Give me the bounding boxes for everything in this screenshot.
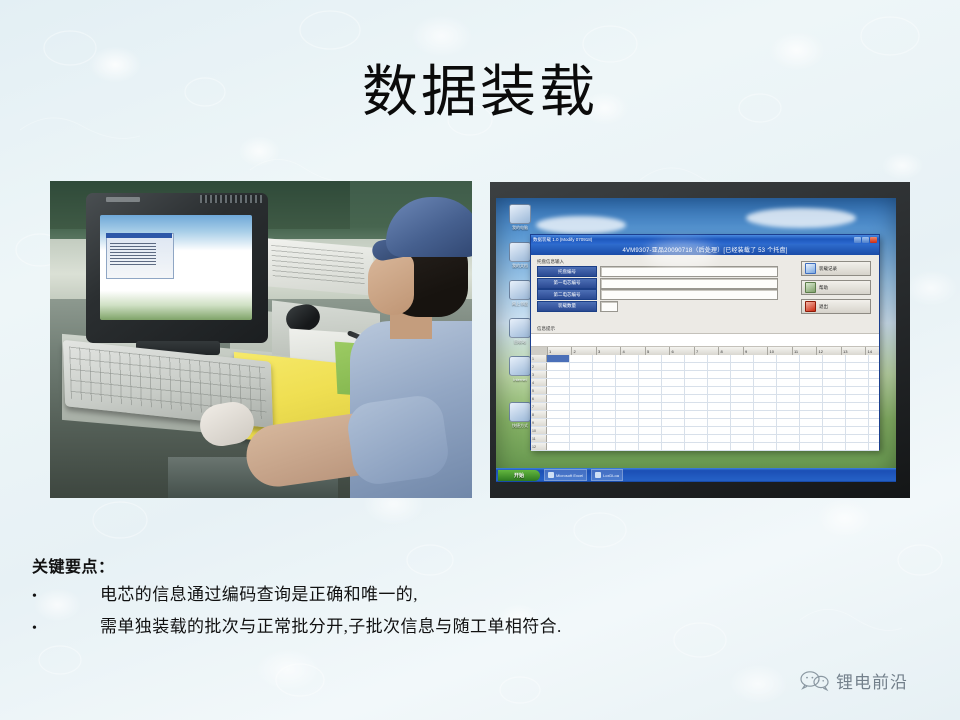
grid-cell[interactable] <box>846 355 869 362</box>
grid-cell[interactable] <box>777 411 800 418</box>
exit-icon <box>805 301 816 312</box>
grid-cell[interactable] <box>869 443 879 450</box>
grid-cell[interactable] <box>685 395 708 402</box>
grid-cell[interactable] <box>662 363 685 370</box>
grid-row[interactable]: 5 <box>531 387 879 395</box>
grid-cell[interactable] <box>593 371 616 378</box>
watermark-text: 锂电前沿 <box>836 668 908 693</box>
operator-at-workstation-photo <box>50 181 472 498</box>
grid-cell[interactable] <box>800 427 823 434</box>
grid-cell[interactable] <box>662 411 685 418</box>
grid-cell[interactable] <box>570 411 593 418</box>
grid-cell[interactable] <box>570 355 593 362</box>
windows-taskbar: 开始 Microsoft Excel LcxDLoa <box>496 468 896 482</box>
wechat-icon <box>800 669 830 693</box>
grid-cell[interactable] <box>777 443 800 450</box>
grid-cell[interactable] <box>547 435 570 442</box>
window-controls[interactable] <box>854 237 877 243</box>
grid-cell[interactable] <box>662 419 685 426</box>
grid-cell[interactable] <box>823 379 846 386</box>
grid-cell[interactable] <box>547 355 570 362</box>
grid-corner-cell <box>531 347 548 355</box>
grid-cell[interactable] <box>731 363 754 370</box>
grid-cell[interactable] <box>547 387 570 394</box>
grid-cell[interactable] <box>593 419 616 426</box>
grid-cell[interactable] <box>800 387 823 394</box>
grid-cell[interactable] <box>685 419 708 426</box>
grid-cell[interactable] <box>616 427 639 434</box>
key-point-text-2: 需单独装载的批次与正常批分开,子批次信息与随工单相符合. <box>100 612 562 642</box>
grid-cell[interactable] <box>846 443 869 450</box>
grid-cell[interactable] <box>662 403 685 410</box>
grid-row-header[interactable]: 6 <box>531 395 547 402</box>
grid-column-header[interactable]: 8 <box>719 347 744 355</box>
grid-cell[interactable] <box>823 395 846 402</box>
photo-monitor-brand <box>106 197 140 202</box>
grid-cell[interactable] <box>800 411 823 418</box>
grid-cell[interactable] <box>593 435 616 442</box>
grid-cell[interactable] <box>708 419 731 426</box>
grid-cell[interactable] <box>846 427 869 434</box>
grid-cell[interactable] <box>777 403 800 410</box>
grid-cell[interactable] <box>547 363 570 370</box>
grid-cell[interactable] <box>662 387 685 394</box>
grid-column-header[interactable]: 11 <box>793 347 818 355</box>
slide-canvas: 数据装载 <box>0 0 960 720</box>
data-grid[interactable]: 1234567891011121314151617 12345678910111… <box>531 347 879 451</box>
taskbar-item-app[interactable]: LcxDLoa <box>591 469 623 481</box>
key-point-item-2: • 需单独装载的批次与正常批分开,子批次信息与随工单相符合. <box>32 612 732 644</box>
app-subtitle-text: 4VM9307-亚品20090718（后处理）[已经装载了 53 个托盘] <box>622 245 787 254</box>
help-button[interactable]: 帮助 <box>801 280 871 295</box>
grid-row[interactable]: 12 <box>531 443 879 451</box>
grid-cell[interactable] <box>593 395 616 402</box>
my-documents-icon <box>509 242 531 262</box>
grid-cell[interactable] <box>777 419 800 426</box>
grid-cell[interactable] <box>708 443 731 450</box>
grid-row[interactable]: 1 <box>531 355 879 363</box>
grid-row[interactable]: 10 <box>531 427 879 435</box>
network-icon <box>509 280 531 300</box>
grid-row-header[interactable]: 10 <box>531 427 547 434</box>
tray-input-form: 托盘信息输入 托盘编号 第一电芯编号 第二电芯编号 装载数量 <box>531 255 879 325</box>
grid-cell[interactable] <box>731 395 754 402</box>
grid-cell[interactable] <box>754 403 777 410</box>
grid-cell[interactable] <box>777 363 800 370</box>
excel-icon <box>548 472 554 478</box>
grid-cell[interactable] <box>593 355 616 362</box>
home-icon <box>805 282 816 293</box>
grid-cell[interactable] <box>800 379 823 386</box>
grid-row[interactable]: 6 <box>531 395 879 403</box>
grid-cell[interactable] <box>754 395 777 402</box>
grid-row-header[interactable]: 5 <box>531 387 547 394</box>
grid-column-header[interactable]: 3 <box>597 347 622 355</box>
grid-cell[interactable] <box>846 435 869 442</box>
grid-cell[interactable] <box>685 411 708 418</box>
grid-column-header[interactable]: 4 <box>621 347 646 355</box>
grid-cell[interactable] <box>823 403 846 410</box>
grid-cell[interactable] <box>685 387 708 394</box>
grid-cell[interactable] <box>800 403 823 410</box>
grid-cell[interactable] <box>777 435 800 442</box>
field-label-quantity: 装载数量 <box>537 301 597 312</box>
grid-cell[interactable] <box>639 363 662 370</box>
app-icon <box>595 472 601 478</box>
photo-monitor-window-titlebar <box>106 233 172 238</box>
grid-cell[interactable] <box>570 427 593 434</box>
wallpaper-cloud <box>746 208 856 228</box>
grid-cell[interactable] <box>639 411 662 418</box>
grid-cell[interactable] <box>662 395 685 402</box>
grid-cell[interactable] <box>708 395 731 402</box>
grid-cell[interactable] <box>570 387 593 394</box>
grid-cell[interactable] <box>708 363 731 370</box>
grid-column-header[interactable]: 10 <box>768 347 793 355</box>
grid-column-header[interactable]: 5 <box>646 347 671 355</box>
grid-row[interactable]: 4 <box>531 379 879 387</box>
grid-cell[interactable] <box>593 411 616 418</box>
app-titlebar: 数据装载 1.0 (Modify 070918) <box>531 235 879 244</box>
grid-cell[interactable] <box>570 363 593 370</box>
grid-cell[interactable] <box>731 379 754 386</box>
app-subtitle-bar: 4VM9307-亚品20090718（后处理）[已经装载了 53 个托盘] <box>531 244 879 255</box>
grid-cell[interactable] <box>639 403 662 410</box>
grid-cell[interactable] <box>616 419 639 426</box>
grid-cell[interactable] <box>708 411 731 418</box>
grid-cell[interactable] <box>823 419 846 426</box>
grid-cell[interactable] <box>869 379 879 386</box>
grid-column-header[interactable]: 1 <box>548 347 573 355</box>
field-input-quantity[interactable] <box>600 301 618 312</box>
monitor-screen: 我的电脑 我的文档 网上邻居 回收站 Internet <box>496 198 896 482</box>
grid-row[interactable]: 11 <box>531 435 879 443</box>
grid-cell[interactable] <box>800 363 823 370</box>
application-screen-photo: 我的电脑 我的文档 网上邻居 回收站 Internet <box>490 182 910 498</box>
grid-cell[interactable] <box>685 427 708 434</box>
grid-cell[interactable] <box>800 443 823 450</box>
grid-cell[interactable] <box>708 403 731 410</box>
grid-cell[interactable] <box>754 427 777 434</box>
grid-row-header[interactable]: 2 <box>531 363 547 370</box>
wallpaper-cloud <box>536 216 626 234</box>
message-bar <box>531 333 879 347</box>
grid-row-header[interactable]: 7 <box>531 403 547 410</box>
grid-cell[interactable] <box>731 355 754 362</box>
grid-column-header[interactable]: 7 <box>695 347 720 355</box>
grid-cell[interactable] <box>846 411 869 418</box>
action-buttons: 装载记录 帮助 退出 <box>801 261 871 318</box>
bullet-glyph: • <box>32 614 48 644</box>
grid-cell[interactable] <box>869 355 879 362</box>
grid-cell[interactable] <box>685 363 708 370</box>
photo-monitor-code-lines <box>110 243 156 265</box>
grid-column-header[interactable]: 12 <box>817 347 842 355</box>
grid-cell[interactable] <box>731 435 754 442</box>
key-point-text-1: 电芯的信息通过编码查询是正确和唯一的, <box>100 580 418 610</box>
grid-cell[interactable] <box>662 443 685 450</box>
photo-worker-sleeve <box>345 393 451 488</box>
grid-cell[interactable] <box>800 395 823 402</box>
grid-column-header[interactable]: 2 <box>572 347 597 355</box>
grid-row[interactable]: 9 <box>531 419 879 427</box>
grid-cell[interactable] <box>846 395 869 402</box>
app-titlebar-text: 数据装载 1.0 (Modify 070918) <box>533 237 854 243</box>
grid-cell[interactable] <box>662 355 685 362</box>
grid-cell[interactable] <box>869 435 879 442</box>
grid-column-header[interactable]: 13 <box>842 347 867 355</box>
grid-cell[interactable] <box>800 435 823 442</box>
grid-cell[interactable] <box>593 443 616 450</box>
grid-cell[interactable] <box>616 363 639 370</box>
grid-cell[interactable] <box>846 387 869 394</box>
key-point-item-1: • 电芯的信息通过编码查询是正确和唯一的, <box>32 580 732 612</box>
field-label-cell-1: 第一电芯编号 <box>537 278 597 289</box>
grid-cell[interactable] <box>846 403 869 410</box>
grid-row-header[interactable]: 11 <box>531 435 547 442</box>
grid-cell[interactable] <box>570 395 593 402</box>
grid-cell[interactable] <box>823 355 846 362</box>
grid-cell[interactable] <box>662 371 685 378</box>
field-label-cell-2: 第二电芯编号 <box>537 289 597 300</box>
grid-column-headers: 1234567891011121314151617 <box>531 347 879 355</box>
grid-cell[interactable] <box>708 435 731 442</box>
grid-cell[interactable] <box>754 435 777 442</box>
grid-cell[interactable] <box>662 427 685 434</box>
grid-column-header[interactable]: 14 <box>866 347 879 355</box>
load-record-button[interactable]: 装载记录 <box>801 261 871 276</box>
grid-cell[interactable] <box>754 379 777 386</box>
bullet-glyph: • <box>32 582 48 612</box>
grid-cell[interactable] <box>708 387 731 394</box>
grid-cell[interactable] <box>869 427 879 434</box>
grid-cell[interactable] <box>616 379 639 386</box>
grid-cell[interactable] <box>639 435 662 442</box>
grid-cell[interactable] <box>869 395 879 402</box>
grid-cell[interactable] <box>777 387 800 394</box>
grid-cell[interactable] <box>547 395 570 402</box>
grid-cell[interactable] <box>685 355 708 362</box>
field-input-cell-2[interactable] <box>600 289 778 300</box>
grid-cell[interactable] <box>754 363 777 370</box>
grid-cell[interactable] <box>800 419 823 426</box>
grid-cell[interactable] <box>547 419 570 426</box>
grid-cell[interactable] <box>869 363 879 370</box>
grid-cell[interactable] <box>846 371 869 378</box>
grid-cell[interactable] <box>547 411 570 418</box>
grid-cell[interactable] <box>685 435 708 442</box>
grid-cell[interactable] <box>639 379 662 386</box>
grid-cell[interactable] <box>800 355 823 362</box>
grid-cell[interactable] <box>731 427 754 434</box>
grid-cell[interactable] <box>754 443 777 450</box>
grid-row-header[interactable]: 4 <box>531 379 547 386</box>
app-window: 数据装载 1.0 (Modify 070918) 4VM9307-亚品20090… <box>530 234 880 450</box>
grid-cell[interactable] <box>639 395 662 402</box>
grid-cell[interactable] <box>570 419 593 426</box>
grid-cell[interactable] <box>823 443 846 450</box>
grid-cell[interactable] <box>731 411 754 418</box>
grid-cell[interactable] <box>869 387 879 394</box>
grid-cell[interactable] <box>800 371 823 378</box>
grid-cell[interactable] <box>570 379 593 386</box>
grid-cell[interactable] <box>823 427 846 434</box>
start-button[interactable]: 开始 <box>498 470 540 481</box>
grid-cell[interactable] <box>869 411 879 418</box>
field-input-cell-1[interactable] <box>600 278 778 289</box>
grid-row-header[interactable]: 1 <box>531 355 547 362</box>
grid-cell[interactable] <box>731 403 754 410</box>
shortcut-icon <box>509 402 531 422</box>
grid-cell[interactable] <box>708 427 731 434</box>
grid-cell[interactable] <box>754 371 777 378</box>
grid-cell[interactable] <box>570 443 593 450</box>
grid-cell[interactable] <box>823 435 846 442</box>
grid-cell[interactable] <box>685 403 708 410</box>
grid-cell[interactable] <box>708 371 731 378</box>
grid-column-header[interactable]: 6 <box>670 347 695 355</box>
grid-cell[interactable] <box>570 435 593 442</box>
grid-cell[interactable] <box>731 419 754 426</box>
grid-cell[interactable] <box>616 387 639 394</box>
photo-worker-face <box>368 253 414 315</box>
grid-cell[interactable] <box>685 443 708 450</box>
my-computer-icon <box>509 204 531 224</box>
grid-cell[interactable] <box>662 379 685 386</box>
grid-cell[interactable] <box>639 443 662 450</box>
grid-cell[interactable] <box>616 403 639 410</box>
field-input-tray-id[interactable] <box>600 266 778 277</box>
grid-cell[interactable] <box>593 427 616 434</box>
grid-cell[interactable] <box>685 379 708 386</box>
grid-cell[interactable] <box>639 355 662 362</box>
grid-cell[interactable] <box>777 355 800 362</box>
key-points-block: 关键要点： • 电芯的信息通过编码查询是正确和唯一的, • 需单独装载的批次与正… <box>32 556 732 644</box>
watermark: 锂电前沿 <box>800 668 908 693</box>
grid-cell[interactable] <box>593 403 616 410</box>
field-label-tray-id: 托盘编号 <box>537 266 597 277</box>
grid-cell[interactable] <box>570 403 593 410</box>
key-points-heading: 关键要点： <box>32 556 732 580</box>
page-title: 数据装载 <box>0 62 960 124</box>
grid-row-header[interactable]: 9 <box>531 419 547 426</box>
grid-cell[interactable] <box>708 355 731 362</box>
grid-cell[interactable] <box>616 395 639 402</box>
grid-cell[interactable] <box>547 427 570 434</box>
grid-cell[interactable] <box>731 387 754 394</box>
maximize-icon[interactable] <box>862 237 869 243</box>
grid-cell[interactable] <box>754 387 777 394</box>
grid-cell[interactable] <box>823 363 846 370</box>
grid-cell[interactable] <box>869 371 879 378</box>
grid-cell[interactable] <box>754 355 777 362</box>
grid-cell[interactable] <box>846 419 869 426</box>
grid-cell[interactable] <box>754 419 777 426</box>
grid-cell[interactable] <box>547 443 570 450</box>
exit-button[interactable]: 退出 <box>801 299 871 314</box>
grid-cell[interactable] <box>639 427 662 434</box>
grid-cell[interactable] <box>846 363 869 370</box>
grid-cell[interactable] <box>593 363 616 370</box>
message-label: 信息提示 <box>531 325 879 333</box>
grid-column-header[interactable]: 9 <box>744 347 769 355</box>
grid-cell[interactable] <box>616 355 639 362</box>
grid-row[interactable]: 3 <box>531 371 879 379</box>
grid-cell[interactable] <box>731 371 754 378</box>
grid-cell[interactable] <box>823 411 846 418</box>
grid-cell[interactable] <box>639 419 662 426</box>
internet-icon <box>509 356 531 376</box>
photo-monitor-vent <box>200 195 262 203</box>
grid-cell[interactable] <box>869 403 879 410</box>
grid-cell[interactable] <box>593 387 616 394</box>
grid-cell[interactable] <box>777 427 800 434</box>
grid-cell[interactable] <box>593 379 616 386</box>
grid-cell[interactable] <box>570 371 593 378</box>
grid-cell[interactable] <box>547 403 570 410</box>
grid-cell[interactable] <box>777 379 800 386</box>
grid-row[interactable]: 7 <box>531 403 879 411</box>
grid-cell[interactable] <box>616 371 639 378</box>
grid-cell[interactable] <box>616 443 639 450</box>
grid-cell[interactable] <box>708 379 731 386</box>
grid-row-header[interactable]: 8 <box>531 411 547 418</box>
grid-cell[interactable] <box>547 371 570 378</box>
grid-row-header[interactable]: 12 <box>531 443 547 450</box>
document-icon <box>805 263 816 274</box>
taskbar-item-excel[interactable]: Microsoft Excel <box>544 469 587 481</box>
grid-row-header[interactable]: 3 <box>531 371 547 378</box>
grid-row[interactable]: 2 <box>531 363 879 371</box>
grid-cell[interactable] <box>547 379 570 386</box>
grid-rows: 12345678910111213141516 <box>531 355 879 451</box>
grid-cell[interactable] <box>823 387 846 394</box>
grid-cell[interactable] <box>639 387 662 394</box>
grid-cell[interactable] <box>731 443 754 450</box>
grid-cell[interactable] <box>777 395 800 402</box>
grid-cell[interactable] <box>662 435 685 442</box>
grid-cell[interactable] <box>685 371 708 378</box>
grid-cell[interactable] <box>777 371 800 378</box>
grid-cell[interactable] <box>823 371 846 378</box>
desktop-icon-my-computer[interactable]: 我的电脑 <box>507 204 533 230</box>
grid-cell[interactable] <box>754 411 777 418</box>
recycle-bin-icon <box>509 318 531 338</box>
close-icon[interactable] <box>870 237 877 243</box>
grid-row[interactable]: 8 <box>531 411 879 419</box>
grid-cell[interactable] <box>616 411 639 418</box>
grid-cell[interactable] <box>639 371 662 378</box>
minimize-icon[interactable] <box>854 237 861 243</box>
grid-cell[interactable] <box>869 419 879 426</box>
grid-cell[interactable] <box>846 379 869 386</box>
grid-cell[interactable] <box>616 435 639 442</box>
